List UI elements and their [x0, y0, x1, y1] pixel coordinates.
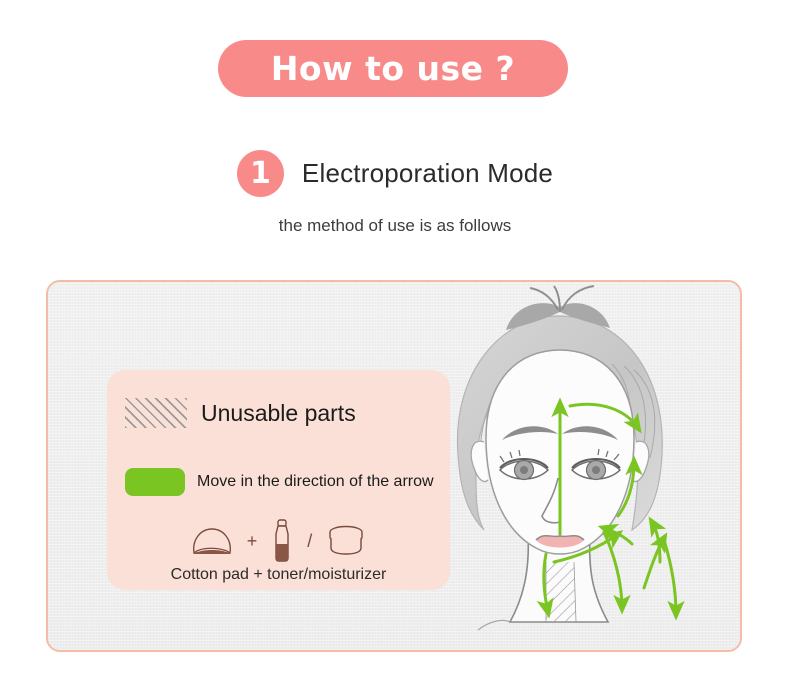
legend-unusable-label: Unusable parts — [201, 400, 356, 427]
toner-bottle-icon — [269, 518, 295, 564]
cotton-pad-icon — [189, 523, 235, 559]
step-number-badge: 1 — [237, 150, 284, 197]
arrow-neck-outer-down — [664, 540, 676, 614]
arrow-neck-side-down — [604, 532, 622, 608]
step-title: Electroporation Mode — [302, 158, 553, 189]
legend-row-arrow: Move in the direction of the arrow — [125, 468, 434, 496]
how-to-use-banner: How to use ? — [218, 40, 568, 97]
face-illustration — [418, 282, 742, 652]
unusable-throat-zone — [546, 562, 576, 622]
page-title: How to use ? — [271, 49, 515, 88]
moisturizer-jar-icon — [324, 523, 368, 559]
instruction-panel: Unusable parts Move in the direction of … — [46, 280, 742, 652]
step-heading-row: 1 Electroporation Mode — [0, 150, 790, 197]
legend-card: Unusable parts Move in the direction of … — [107, 370, 450, 590]
plus-sign: + — [247, 531, 258, 552]
product-icons-row: + / — [107, 518, 450, 564]
legend-products-label: Cotton pad + toner/moisturizer — [107, 566, 450, 584]
step-subtitle: the method of use is as follows — [0, 216, 790, 236]
slash-separator: / — [307, 531, 312, 552]
hatch-pattern-swatch-icon — [125, 398, 187, 428]
legend-row-unusable: Unusable parts — [125, 398, 356, 428]
legend-arrow-label: Move in the direction of the arrow — [197, 473, 434, 491]
green-swatch-icon — [125, 468, 185, 496]
